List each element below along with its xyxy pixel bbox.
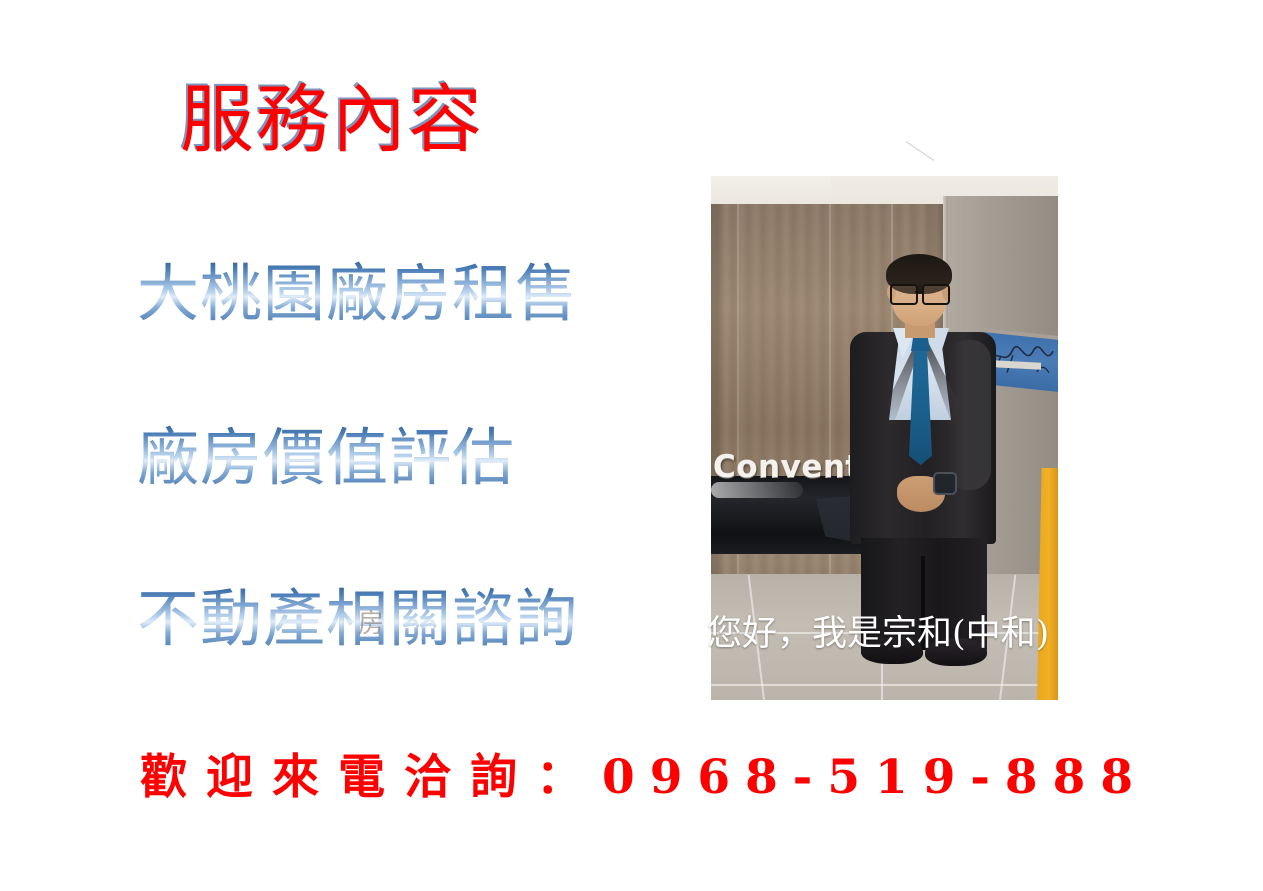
wristwatch-icon (933, 472, 957, 495)
service-item-factory-rental: 大桃園廠房租售 (137, 258, 578, 330)
contact-phone-line: 歡迎來電洽詢：0968-519-888 (140, 748, 1148, 808)
service-item-valuation: 廠房價值評估 (137, 422, 515, 494)
presentation-slide: 服務內容 大桃園廠房租售 廠房價值評估 不動產相關諮詢 房 Convention… (0, 0, 1263, 891)
diagonal-line-artifact (894, 141, 934, 177)
photo-caption: 您好，我是宗和(中和) (707, 612, 1049, 656)
glasses-bridge (915, 291, 923, 293)
page-title: 服務內容 (180, 78, 484, 162)
contact-cta-label: 歡迎來電洽詢： (140, 750, 602, 805)
glasses-lens-left (890, 284, 918, 305)
glasses-lens-right (922, 284, 950, 305)
contact-phone-number: 0968-519-888 (602, 750, 1148, 805)
ghost-text-artifact: 房 (358, 609, 398, 639)
eyeglasses-icon (889, 284, 949, 301)
poster-scribble-icon (987, 338, 1055, 379)
